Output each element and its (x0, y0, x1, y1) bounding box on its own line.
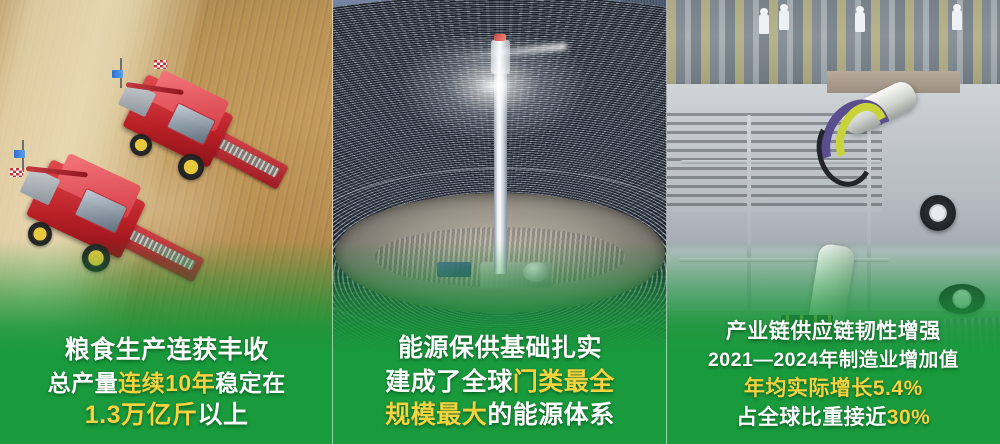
caption-segment: 建成了全球 (385, 368, 513, 396)
caption-segment: 稳定在 (215, 370, 286, 396)
checkered-flag-icon (10, 168, 23, 177)
worker-figure (779, 10, 789, 30)
safety-rail (747, 115, 751, 310)
caption-segment: 门类最全 (513, 368, 615, 396)
caption-segment: 30% (887, 406, 931, 429)
caption-segment: 以上 (198, 401, 249, 429)
caption-segment: 占全球比重接近 (736, 406, 887, 429)
infographic-root: 粮食生产连获丰收总产量连续10年稳定在1.3万亿斤以上 (0, 0, 1000, 444)
safety-rail (679, 258, 889, 262)
caption-segment: 粮食生产连获丰收 (65, 336, 269, 364)
caption-line: 建成了全球门类最全 (339, 368, 660, 397)
caption-segment: 的能源体系 (487, 401, 615, 429)
caption-line: 2021—2024年制造业增加值 (673, 349, 994, 371)
caption-segment: 产业链供应链韧性增强 (726, 320, 941, 343)
combine-harvester-icon (8, 138, 198, 278)
caption-line: 年均实际增长5.4% (673, 377, 994, 401)
caption-grain-production: 粮食生产连获丰收总产量连续10年稳定在1.3万亿斤以上 (0, 336, 333, 444)
caption-segment: 1.3万亿斤 (85, 401, 198, 429)
harvester-wheel (82, 244, 110, 272)
blue-flag-icon (14, 150, 25, 158)
panel-grain-production: 粮食生产连获丰收总产量连续10年稳定在1.3万亿斤以上 (0, 0, 333, 444)
caption-segment: 规模最大 (385, 401, 487, 429)
caption-line: 规模最大的能源体系 (339, 401, 660, 430)
checkered-flag-icon (154, 60, 167, 69)
caption-line: 1.3万亿斤以上 (6, 401, 327, 430)
caption-segment: 2021—2024年制造业增加值 (708, 349, 959, 371)
caption-segment: 连续10年 (118, 370, 215, 396)
worker-figure (759, 14, 769, 34)
tire-icon (920, 195, 956, 231)
caption-line: 能源保供基础扎实 (339, 334, 660, 363)
caption-industrial-chain: 产业链供应链韧性增强2021—2024年制造业增加值年均实际增长5.4%占全球比… (667, 320, 1000, 444)
worker-figure (952, 10, 962, 30)
caption-energy-supply: 能源保供基础扎实建成了全球门类最全规模最大的能源体系 (333, 334, 666, 444)
receiver-glare (395, 36, 585, 146)
caption-line: 占全球比重接近30% (673, 406, 994, 430)
caption-line: 产业链供应链韧性增强 (673, 320, 994, 344)
worker-figure (855, 12, 865, 32)
harvester-wheel (28, 222, 52, 246)
caption-line: 总产量连续10年稳定在 (6, 370, 327, 396)
caption-line: 粮食生产连获丰收 (6, 336, 327, 365)
caption-segment: 总产量 (48, 370, 119, 396)
panel-industrial-chain: 产业链供应链韧性增强2021—2024年制造业增加值年均实际增长5.4%占全球比… (667, 0, 1000, 444)
caption-segment: 年均实际增长5.4% (744, 377, 923, 400)
caption-segment: 能源保供基础扎实 (398, 334, 602, 362)
panel-energy-supply: 能源保供基础扎实建成了全球门类最全规模最大的能源体系 (333, 0, 666, 444)
plant-equipment-blue (437, 262, 471, 277)
blue-flag-icon (112, 70, 123, 78)
tire-icon (939, 284, 985, 314)
